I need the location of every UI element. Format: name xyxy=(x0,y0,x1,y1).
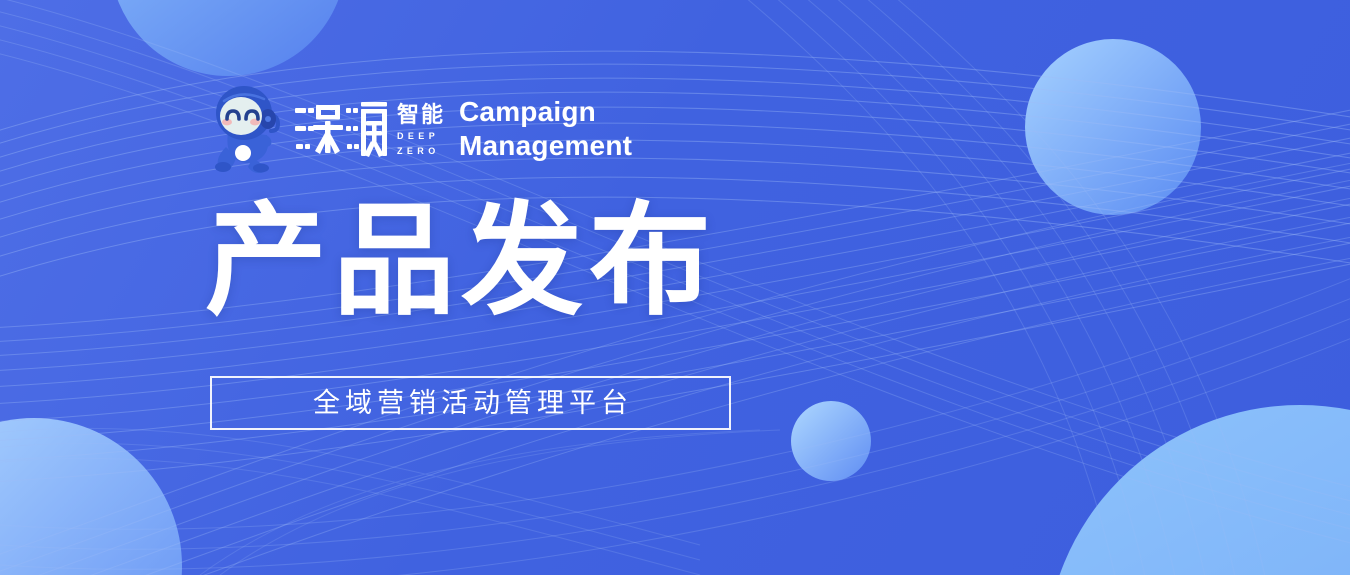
product-name-line1: Campaign xyxy=(459,95,632,129)
product-name-block: Campaign Management xyxy=(459,95,632,163)
brand-name-block: 智能 DEEP ZERO xyxy=(397,103,445,157)
subtitle-frame: 全域营销活动管理平台 xyxy=(210,376,731,430)
brand-name-en-line1: DEEP xyxy=(397,130,439,142)
logo-lockup: 智能 DEEP ZERO Campaign Management xyxy=(208,83,632,175)
shenyan-chinese-wordmark-icon xyxy=(294,99,390,161)
subtitle-text: 全域营销活动管理平台 xyxy=(308,388,633,418)
deepzero-robot-mascot-icon xyxy=(208,85,286,173)
brand-name-en-line2: ZERO xyxy=(397,145,440,157)
product-name-line2: Management xyxy=(459,129,632,163)
brand-name-cn: 智能 xyxy=(397,103,445,127)
page-title: 产品发布 xyxy=(205,191,717,331)
product-launch-banner: 智能 DEEP ZERO Campaign Management 产品发布 全域… xyxy=(0,0,1350,575)
